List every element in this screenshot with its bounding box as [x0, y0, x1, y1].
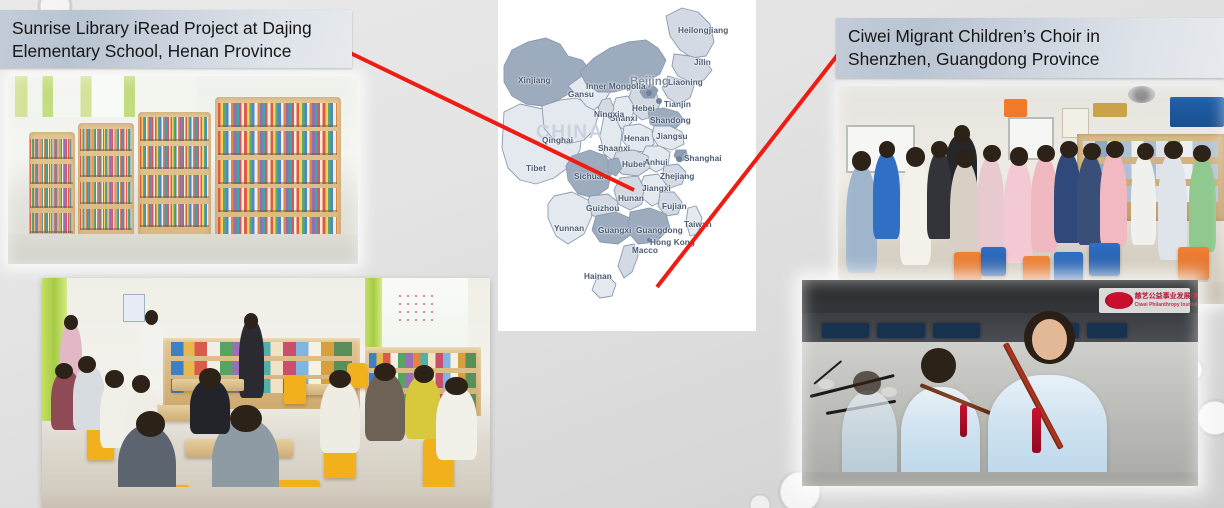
child-head	[1193, 145, 1211, 162]
child-head	[1060, 141, 1078, 158]
map-label-shanghai: Shanghai	[684, 154, 722, 163]
choir-child	[1131, 154, 1156, 246]
child-head	[852, 151, 871, 171]
child-head	[445, 377, 467, 395]
floor	[42, 487, 490, 508]
map-label-guangdong: Guangdong	[636, 226, 683, 235]
logo-mark-icon	[1105, 292, 1133, 308]
child-head	[906, 147, 925, 167]
photo-flute-performance: 慈艺公益事业发展中心 Ciwei Philanthropy Institute	[802, 280, 1198, 486]
choir-child	[1189, 156, 1216, 252]
stool-blue	[1089, 243, 1120, 276]
map-label-taiwan: Taiwan	[684, 220, 712, 229]
callout-right-line1: Ciwei Migrant Children’s Choir in	[848, 25, 1214, 48]
slide-canvas: CHINA Beijing Heilongjiang Jilin Liaonin…	[0, 0, 1224, 508]
child-head	[1010, 147, 1029, 166]
callout-left-line1: Sunrise Library iRead Project at Dajing	[12, 17, 342, 40]
stool-blue	[981, 247, 1006, 275]
map-label-heilongjiang: Heilongjiang	[678, 26, 728, 35]
map-label-hubei: Hubei	[622, 160, 645, 169]
child-head	[136, 411, 165, 436]
map-label-gansu: Gansu	[568, 90, 594, 99]
info-sign	[877, 323, 925, 337]
teacher-head	[244, 313, 258, 329]
logo-text-en: Ciwei Philanthropy Institute	[1135, 303, 1198, 309]
child-head	[1164, 141, 1183, 160]
china-map-panel: CHINA Beijing Heilongjiang Jilin Liaonin…	[498, 0, 756, 331]
map-label-fujian: Fujian	[662, 202, 687, 211]
bookshelf-unit	[29, 132, 75, 249]
photo-library-classroom	[42, 278, 490, 508]
city-dot-tianjin	[656, 98, 662, 104]
choir-child	[873, 151, 900, 238]
plaque	[1093, 103, 1128, 116]
performer-head	[921, 348, 957, 383]
child-head	[983, 145, 1001, 162]
map-label-anhui: Anhui	[644, 158, 668, 167]
child-seated	[320, 379, 360, 453]
map-label-qinghai: Qinghai	[542, 136, 573, 145]
conductor-head	[954, 125, 970, 142]
map-label-tibet: Tibet	[526, 164, 546, 173]
orange-box	[1004, 99, 1027, 116]
choir-child	[900, 160, 931, 265]
stage-floor	[802, 472, 1198, 486]
info-sign	[933, 323, 981, 337]
choir-child	[950, 160, 979, 260]
floor	[8, 234, 358, 264]
wall-banner	[1170, 97, 1224, 128]
child-head	[1106, 141, 1124, 158]
map-label-hebei: Hebei	[632, 104, 655, 113]
map-label-hainan: Hainan	[584, 272, 612, 281]
map-label-sichuan: Sichuan	[574, 172, 607, 181]
map-label-jiangsu: Jiangsu	[656, 132, 688, 141]
map-label-jiangxi: Jiangxi	[642, 184, 671, 193]
city-dot-beijing	[646, 90, 652, 96]
map-label-ningxia: Ningxia	[594, 110, 624, 119]
choir-child	[977, 156, 1004, 252]
map-label-yunnan: Yunnan	[554, 224, 584, 233]
child-head	[931, 141, 948, 158]
child-head	[105, 370, 124, 388]
child-seated	[436, 386, 476, 460]
info-sign	[822, 323, 870, 337]
bookshelf-unit	[138, 112, 212, 249]
adult-head	[64, 315, 77, 330]
map-label-macco: Macco	[632, 246, 658, 255]
map-label-zhejiang: Zhejiang	[660, 172, 694, 181]
map-label-xinjiang: Xinjiang	[518, 76, 551, 85]
info-sign	[1087, 323, 1127, 337]
chair	[284, 375, 306, 405]
photo-library-shelves	[8, 76, 358, 264]
callout-left-line2: Elementary School, Henan Province	[12, 40, 342, 63]
map-label-shandong: Shandong	[650, 116, 691, 125]
bookshelf-unit-front	[215, 97, 341, 255]
map-label-henan: Henan	[624, 134, 650, 143]
city-dot-hong-kong	[647, 238, 651, 242]
choir-child	[1004, 158, 1033, 263]
callout-left-henan[interactable]: Sunrise Library iRead Project at Dajing …	[0, 10, 352, 68]
callout-right-line2: Shenzhen, Guangdong Province	[848, 48, 1214, 71]
map-label-guangxi: Guangxi	[598, 226, 631, 235]
child-head	[1037, 145, 1055, 162]
wall-decoration	[396, 292, 436, 324]
map-label-liaoning: Liaoning	[668, 78, 703, 87]
choir-child	[1158, 151, 1187, 260]
choir-child	[927, 151, 952, 238]
child-seated	[365, 372, 405, 441]
stool-orange	[1178, 247, 1209, 280]
child-head	[956, 149, 975, 168]
child-head	[78, 356, 96, 373]
microphone-head-icon	[818, 379, 834, 389]
child-head	[1083, 143, 1101, 160]
logo-text-cn: 慈艺公益事业发展中心	[1135, 293, 1198, 301]
flute-tassel	[1032, 408, 1041, 453]
city-dot-shanghai	[676, 156, 682, 162]
callout-right-guangdong[interactable]: Ciwei Migrant Children’s Choir in Shenzh…	[836, 18, 1224, 78]
photo-childrens-choir	[838, 86, 1224, 304]
choir-child	[1100, 151, 1127, 247]
map-label-tianjin: Tianjin	[664, 100, 691, 109]
map-label-hunan: Hunan	[618, 194, 644, 203]
child-head	[1137, 143, 1154, 160]
flute-tassel	[960, 404, 967, 437]
map-label-inner-mongolia: Inner Mongolia	[586, 82, 646, 91]
map-label-shaanxi: Shaanxi	[598, 144, 630, 153]
stool-blue	[1054, 252, 1083, 283]
map-label-jilin: Jilin	[694, 58, 711, 67]
wall-poster	[123, 294, 145, 322]
ceiling-fan	[1128, 86, 1155, 103]
bookshelf-unit	[78, 123, 134, 249]
choir-child	[846, 164, 877, 273]
stool-orange	[954, 252, 981, 283]
map-label-guizhou: Guizhou	[586, 204, 619, 213]
child-head	[230, 405, 261, 433]
child-head	[414, 365, 435, 382]
